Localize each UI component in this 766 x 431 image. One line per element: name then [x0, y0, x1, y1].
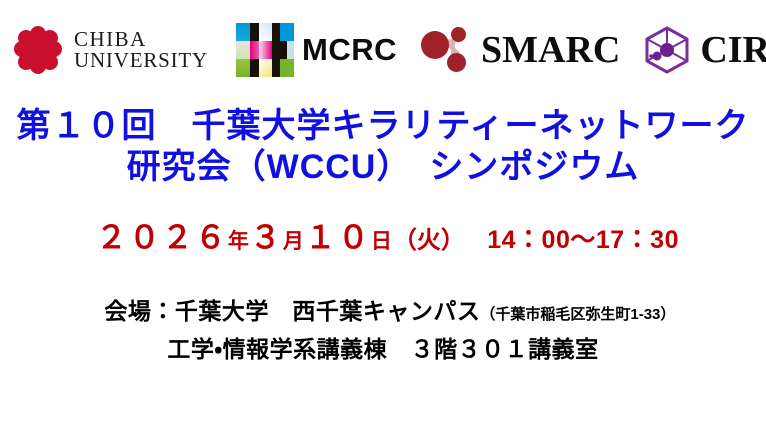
logo-smarc: SMARC — [421, 25, 620, 75]
chiba-university-wordmark: CHIBA UNIVERSITY — [74, 29, 208, 71]
event-weekday: （火） — [393, 227, 465, 254]
ciric-wordmark: CIRIC — [700, 28, 766, 72]
chiba-wordmark-line1: CHIBA — [74, 29, 208, 50]
logo-bar: CHIBA UNIVERSITY — [0, 0, 766, 100]
venue-campus: 会場：千葉大学 西千葉キャンパス — [104, 298, 480, 324]
mcrc-wordmark: MCRC — [302, 32, 397, 68]
event-time-range: 14：00〜17：30 — [487, 226, 679, 254]
logo-mcrc: MCRC — [236, 23, 397, 77]
event-title-line1: 第１０回 千葉大学キラリティーネットワーク — [0, 106, 766, 147]
smarc-molecule-mark-icon — [421, 25, 473, 75]
chiba-wordmark-line2: UNIVERSITY — [74, 50, 208, 71]
smarc-wordmark: SMARC — [481, 28, 620, 72]
event-month: ３ — [250, 220, 283, 255]
logo-chiba-university: CHIBA UNIVERSITY — [14, 26, 208, 74]
event-datetime: ２０２６年３月１０日（火） 14：00〜17：30 — [0, 203, 766, 255]
event-title-line2: 研究会（WCCU） シンポジウム — [0, 147, 766, 188]
chiba-flower-mark-icon — [14, 26, 62, 74]
venue-room: 工学・情報学系講義棟 ３階３０１講義室 — [0, 336, 766, 364]
event-day-unit: 日 — [371, 230, 393, 253]
event-time — [465, 226, 487, 254]
mcrc-colorful-h-mark-icon — [236, 23, 294, 77]
logo-ciric: CIRIC — [642, 25, 766, 75]
event-month-unit: 月 — [283, 230, 305, 253]
venue-address: （千葉市稲毛区弥生町1-33） — [480, 306, 675, 323]
event-year-unit: 年 — [228, 230, 250, 253]
event-year: ２０２６ — [96, 220, 228, 255]
event-title: 第１０回 千葉大学キラリティーネットワーク 研究会（WCCU） シンポジウム — [0, 106, 766, 189]
ciric-hexagon-cube-mark-icon — [642, 25, 692, 75]
event-day: １０ — [305, 220, 371, 255]
venue-primary: 会場：千葉大学 西千葉キャンパス（千葉市稲毛区弥生町1-33） — [0, 271, 766, 326]
